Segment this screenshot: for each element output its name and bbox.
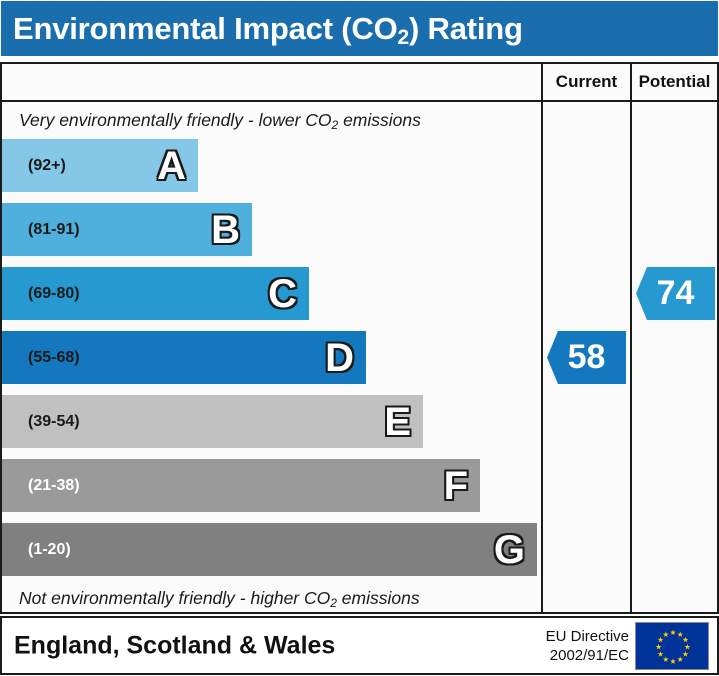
- eu-star: [683, 636, 689, 642]
- page-title-tail: ) Rating: [409, 11, 523, 46]
- description-bottom-post: emissions: [337, 588, 420, 608]
- rating-band-a: (92+)A: [2, 139, 198, 192]
- rating-band-f: (21-38)F: [2, 459, 480, 512]
- rating-band-d: (55-68)D: [2, 331, 366, 384]
- column-header-potential: Potential: [632, 64, 717, 100]
- band-range-b: (81-91): [28, 221, 80, 239]
- band-range-a: (92+): [28, 157, 66, 175]
- epc-environmental-impact-chart: Environmental Impact (CO2) Rating Curren…: [0, 0, 719, 675]
- eu-star: [670, 658, 676, 664]
- eu-star: [663, 631, 669, 637]
- description-bottom-pre: Not environmentally friendly - higher CO: [19, 588, 330, 608]
- rating-band-g: (1-20)G: [2, 523, 537, 576]
- chart-title-bar: Environmental Impact (CO2) Rating: [0, 0, 719, 57]
- footer-region-label: England, Scotland & Wales: [14, 631, 335, 660]
- eu-star: [684, 643, 690, 649]
- eu-flag-icon: [635, 622, 709, 670]
- footer-eu-directive: EU Directive 2002/91/EC: [546, 626, 629, 664]
- band-range-f: (21-38): [28, 477, 80, 495]
- eu-star: [670, 629, 676, 635]
- description-top: Very environmentally friendly - lower CO…: [19, 110, 421, 131]
- description-bottom-subscript: 2: [330, 596, 337, 610]
- band-letter-f: F: [444, 466, 468, 506]
- band-range-g: (1-20): [28, 541, 71, 559]
- band-letter-d: D: [325, 338, 354, 378]
- description-top-post: emissions: [338, 110, 421, 130]
- rating-band-e: (39-54)E: [2, 395, 423, 448]
- page-title: Environmental Impact (CO2) Rating: [13, 11, 523, 47]
- band-letter-e: E: [384, 402, 411, 442]
- eu-star: [656, 643, 662, 649]
- rating-band-c: (69-80)C: [2, 267, 309, 320]
- description-bottom: Not environmentally friendly - higher CO…: [19, 588, 420, 609]
- rating-grid: Current Potential Very environmentally f…: [0, 62, 719, 614]
- band-range-e: (39-54): [28, 413, 80, 431]
- column-header-current: Current: [543, 64, 630, 100]
- band-letter-b: B: [211, 210, 240, 250]
- band-range-d: (55-68): [28, 349, 80, 367]
- column-divider-current: [541, 64, 543, 612]
- header-divider: [2, 100, 717, 102]
- page-title-main: Environmental Impact (CO: [13, 11, 398, 46]
- eu-star: [683, 651, 689, 657]
- description-top-subscript: 2: [332, 118, 339, 132]
- eu-star: [663, 656, 669, 662]
- eu-stars-circle: [636, 623, 710, 671]
- footer-directive-line2: 2002/91/EC: [546, 646, 629, 665]
- chart-footer: England, Scotland & Wales EU Directive 2…: [0, 616, 719, 675]
- page-title-subscript: 2: [398, 26, 409, 49]
- description-top-pre: Very environmentally friendly - lower CO: [19, 110, 332, 130]
- band-range-c: (69-80): [28, 285, 80, 303]
- band-letter-c: C: [268, 274, 297, 314]
- column-divider-potential: [630, 64, 632, 612]
- eu-star: [658, 651, 664, 657]
- eu-star: [677, 631, 683, 637]
- rating-band-b: (81-91)B: [2, 203, 252, 256]
- eu-star: [677, 656, 683, 662]
- potential-rating-marker: 74: [636, 267, 715, 320]
- current-rating-marker: 58: [547, 331, 626, 384]
- eu-star: [658, 636, 664, 642]
- band-letter-a: A: [157, 146, 186, 186]
- band-letter-g: G: [494, 530, 525, 570]
- footer-directive-line1: EU Directive: [546, 626, 629, 645]
- rating-bands: (92+)A(81-91)B(69-80)C(55-68)D(39-54)E(2…: [2, 139, 541, 586]
